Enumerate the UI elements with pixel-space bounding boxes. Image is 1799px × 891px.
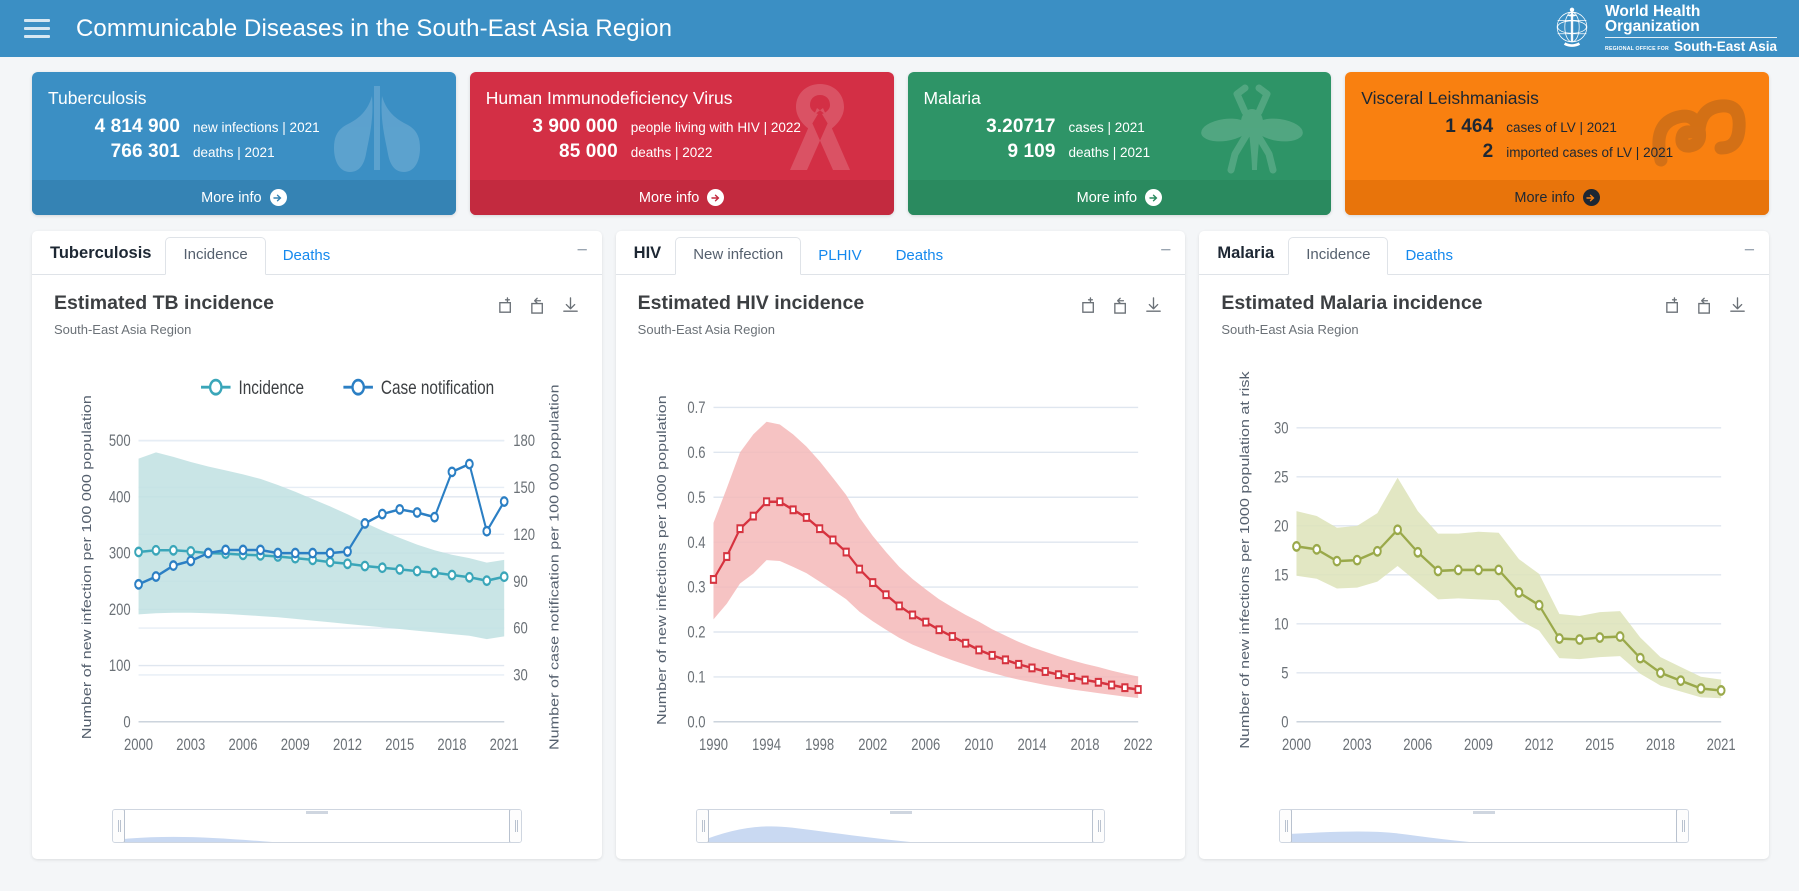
svg-text:0.7: 0.7 [687, 400, 705, 418]
kpi-value: 766 301 [48, 141, 193, 163]
svg-text:60: 60 [513, 621, 528, 639]
svg-text:Incidence: Incidence [238, 377, 304, 399]
kpi-value: 3.20717 [924, 116, 1069, 138]
who-logo-line1: World Health [1605, 4, 1777, 20]
svg-text:1990: 1990 [699, 737, 728, 755]
svg-text:200: 200 [109, 602, 131, 620]
panel-tab-bar: Tuberculosis Incidence Deaths − [32, 231, 602, 275]
who-emblem-icon [1548, 5, 1596, 51]
range-handle-left[interactable] [112, 809, 125, 843]
svg-text:2009: 2009 [1464, 737, 1493, 755]
svg-text:2006: 2006 [1404, 737, 1433, 755]
svg-text:Number of new infections per 1: Number of new infections per 1000 popula… [1238, 371, 1252, 749]
svg-text:0: 0 [123, 714, 130, 732]
kpi-label: new infections | 2021 [193, 120, 320, 135]
chart-subtitle: South-East Asia Region [54, 322, 274, 337]
svg-text:2003: 2003 [1343, 737, 1372, 755]
kpi-label: people living with HIV | 2022 [631, 120, 801, 135]
svg-text:0.1: 0.1 [687, 669, 705, 687]
minimize-icon[interactable]: − [577, 240, 588, 274]
more-info-button[interactable]: More info [1345, 180, 1769, 215]
who-logo: World Health Organization REGIONAL OFFIC… [1548, 4, 1777, 54]
svg-text:2021: 2021 [1707, 737, 1736, 755]
kpi-card-hiv[interactable]: Human Immunodeficiency Virus 3 900 000pe… [470, 72, 894, 215]
more-info-label: More info [201, 190, 261, 206]
svg-text:0.0: 0.0 [687, 714, 705, 732]
svg-text:0.6: 0.6 [687, 445, 705, 463]
svg-text:500: 500 [109, 433, 131, 451]
svg-text:150: 150 [513, 480, 535, 498]
kpi-title: Visceral Leishmaniasis [1361, 88, 1751, 109]
chart-panel-row: Tuberculosis Incidence Deaths − Estimate… [0, 215, 1799, 859]
kpi-label: deaths | 2021 [193, 145, 275, 160]
svg-text:10: 10 [1274, 616, 1289, 634]
kpi-title: Tuberculosis [48, 88, 438, 109]
chart-toolbar [1664, 292, 1747, 315]
kpi-label: deaths | 2022 [631, 145, 713, 160]
svg-text:0.2: 0.2 [687, 624, 705, 642]
chart-tb-incidence[interactable]: 0100200300400500306090120150180Number of… [32, 337, 602, 809]
svg-text:2015: 2015 [385, 737, 414, 755]
chart-header: Estimated Malaria incidence South-East A… [1199, 275, 1769, 337]
chart-title: Estimated Malaria incidence [1221, 292, 1482, 315]
svg-text:2012: 2012 [333, 737, 362, 755]
who-logo-regional-label: REGIONAL OFFICE FOR [1605, 47, 1669, 54]
range-handle-right[interactable] [509, 809, 522, 843]
svg-text:2002: 2002 [858, 737, 887, 755]
svg-text:2018: 2018 [1070, 737, 1099, 755]
chart-header: Estimated TB incidence South-East Asia R… [32, 275, 602, 337]
svg-text:0.5: 0.5 [687, 490, 705, 508]
more-info-button[interactable]: More info [32, 180, 456, 215]
svg-text:1994: 1994 [752, 737, 781, 755]
svg-text:2009: 2009 [281, 737, 310, 755]
more-info-label: More info [1514, 190, 1574, 206]
arrow-right-icon [1583, 189, 1600, 206]
panel-tuberculosis: Tuberculosis Incidence Deaths − Estimate… [32, 231, 602, 859]
kpi-label: deaths | 2021 [1069, 145, 1151, 160]
hamburger-icon[interactable] [24, 19, 50, 38]
chart-range-scrollbar-wrap [616, 809, 1186, 859]
svg-text:2012: 2012 [1525, 737, 1554, 755]
range-handle-left[interactable] [696, 809, 709, 843]
svg-text:2000: 2000 [1282, 737, 1311, 755]
chart-subtitle: South-East Asia Region [638, 322, 865, 337]
chart-range-scrollbar-wrap [32, 809, 602, 859]
range-grip [1473, 811, 1495, 814]
svg-text:400: 400 [109, 489, 131, 507]
range-handle-right[interactable] [1676, 809, 1689, 843]
new-window-icon[interactable] [1080, 296, 1099, 315]
svg-text:Number of case notification pe: Number of case notification per 100 000 … [548, 384, 562, 750]
kpi-value: 2 [1361, 141, 1506, 163]
range-handle-left[interactable] [1279, 809, 1292, 843]
chart-title: Estimated TB incidence [54, 292, 274, 315]
chart-range-scrollbar[interactable] [696, 809, 1106, 843]
kpi-value: 85 000 [486, 141, 631, 163]
refresh-icon[interactable] [529, 296, 548, 315]
svg-text:Number of new infection per 10: Number of new infection per 100 000 popu… [80, 395, 94, 739]
panel-malaria: Malaria Incidence Deaths − Estimated Mal… [1199, 231, 1769, 859]
download-icon[interactable] [1728, 296, 1747, 315]
kpi-value: 9 109 [924, 141, 1069, 163]
chart-subtitle: South-East Asia Region [1221, 322, 1482, 337]
kpi-label: cases of LV | 2021 [1506, 120, 1617, 135]
svg-text:0: 0 [1282, 714, 1289, 732]
kpi-value: 3 900 000 [486, 116, 631, 138]
panel-hiv: HIV New infection PLHIV Deaths − Estimat… [616, 231, 1186, 859]
download-icon[interactable] [1144, 296, 1163, 315]
chart-range-scrollbar-wrap [1199, 809, 1769, 859]
range-preview [1280, 810, 1688, 843]
range-preview [697, 810, 1105, 843]
app-header: Communicable Diseases in the South-East … [0, 0, 1799, 57]
minimize-icon[interactable]: − [1160, 240, 1171, 274]
svg-text:5: 5 [1282, 665, 1289, 683]
kpi-title: Human Immunodeficiency Virus [486, 88, 876, 109]
svg-text:300: 300 [109, 546, 131, 564]
svg-text:1998: 1998 [805, 737, 834, 755]
svg-text:180: 180 [513, 433, 535, 451]
svg-text:Case notification: Case notification [381, 377, 494, 399]
svg-text:2000: 2000 [124, 737, 153, 755]
svg-text:25: 25 [1274, 469, 1289, 487]
kpi-card-malaria[interactable]: Malaria 3.20717cases | 2021 9 109deaths … [908, 72, 1332, 215]
kpi-card-visceral-leishmaniasis[interactable]: Visceral Leishmaniasis 1 464cases of LV … [1345, 72, 1769, 215]
svg-text:90: 90 [513, 574, 528, 592]
chart-toolbar [1080, 292, 1163, 315]
who-logo-line2: Organization [1605, 19, 1777, 35]
kpi-label: imported cases of LV | 2021 [1506, 145, 1673, 160]
kpi-value: 4 814 900 [48, 116, 193, 138]
range-grip [306, 811, 328, 814]
svg-text:2006: 2006 [229, 737, 258, 755]
svg-text:2003: 2003 [176, 737, 205, 755]
refresh-icon[interactable] [1696, 296, 1715, 315]
chart-range-scrollbar[interactable] [1279, 809, 1689, 843]
svg-text:15: 15 [1274, 567, 1289, 585]
svg-text:20: 20 [1274, 518, 1289, 536]
range-preview [113, 810, 521, 843]
tab-hiv-plhiv[interactable]: PLHIV [801, 239, 878, 275]
kpi-value: 1 464 [1361, 116, 1506, 138]
chart-malaria-incidence[interactable]: 0510152025302000200320062009201220152018… [1199, 337, 1769, 809]
svg-text:30: 30 [1274, 420, 1289, 438]
more-info-label: More info [1077, 190, 1137, 206]
tab-hiv-new-infection[interactable]: New infection [675, 237, 801, 275]
kpi-label: cases | 2021 [1069, 120, 1145, 135]
arrow-right-icon [1145, 189, 1162, 206]
range-handle-right[interactable] [1092, 809, 1105, 843]
panel-tab-bar: Malaria Incidence Deaths − [1199, 231, 1769, 275]
page-title: Communicable Diseases in the South-East … [76, 15, 672, 43]
arrow-right-icon [707, 189, 724, 206]
download-icon[interactable] [561, 296, 580, 315]
who-logo-region: South-East Asia [1674, 40, 1777, 54]
kpi-card-tuberculosis[interactable]: Tuberculosis 4 814 900new infections | 2… [32, 72, 456, 215]
panel-title: HIV [634, 244, 662, 274]
chart-header: Estimated HIV incidence South-East Asia … [616, 275, 1186, 337]
panel-tab-bar: HIV New infection PLHIV Deaths − [616, 231, 1186, 275]
kpi-title: Malaria [924, 88, 1314, 109]
svg-text:30: 30 [513, 667, 528, 685]
chart-toolbar [497, 292, 580, 315]
range-grip [890, 811, 912, 814]
panel-title: Malaria [1217, 244, 1274, 274]
tab-tb-deaths[interactable]: Deaths [266, 239, 348, 275]
new-window-icon[interactable] [1664, 296, 1683, 315]
more-info-button[interactable]: More info [908, 180, 1332, 215]
refresh-icon[interactable] [1112, 296, 1131, 315]
svg-text:2021: 2021 [490, 737, 519, 755]
tab-malaria-deaths[interactable]: Deaths [1388, 239, 1470, 275]
svg-text:2010: 2010 [964, 737, 993, 755]
svg-text:2022: 2022 [1123, 737, 1152, 755]
svg-text:2014: 2014 [1017, 737, 1046, 755]
svg-text:120: 120 [513, 527, 535, 545]
more-info-label: More info [639, 190, 699, 206]
tab-tb-incidence[interactable]: Incidence [165, 237, 265, 275]
svg-text:2015: 2015 [1586, 737, 1615, 755]
tab-malaria-incidence[interactable]: Incidence [1288, 237, 1388, 275]
svg-text:Number of new infections per 1: Number of new infections per 1000 popula… [655, 395, 669, 725]
more-info-button[interactable]: More info [470, 180, 894, 215]
tab-hiv-deaths[interactable]: Deaths [879, 239, 961, 275]
chart-title: Estimated HIV incidence [638, 292, 865, 315]
new-window-icon[interactable] [497, 296, 516, 315]
minimize-icon[interactable]: − [1744, 240, 1755, 274]
svg-text:0.4: 0.4 [687, 535, 705, 553]
arrow-right-icon [270, 189, 287, 206]
kpi-card-row: Tuberculosis 4 814 900new infections | 2… [0, 57, 1799, 215]
chart-range-scrollbar[interactable] [112, 809, 522, 843]
panel-title: Tuberculosis [50, 244, 151, 274]
svg-text:100: 100 [109, 658, 131, 676]
svg-text:2018: 2018 [437, 737, 466, 755]
chart-hiv-incidence[interactable]: 0.00.10.20.30.40.50.60.71990199419982002… [616, 337, 1186, 809]
svg-text:0.3: 0.3 [687, 579, 705, 597]
svg-text:2006: 2006 [911, 737, 940, 755]
svg-text:2018: 2018 [1646, 737, 1675, 755]
